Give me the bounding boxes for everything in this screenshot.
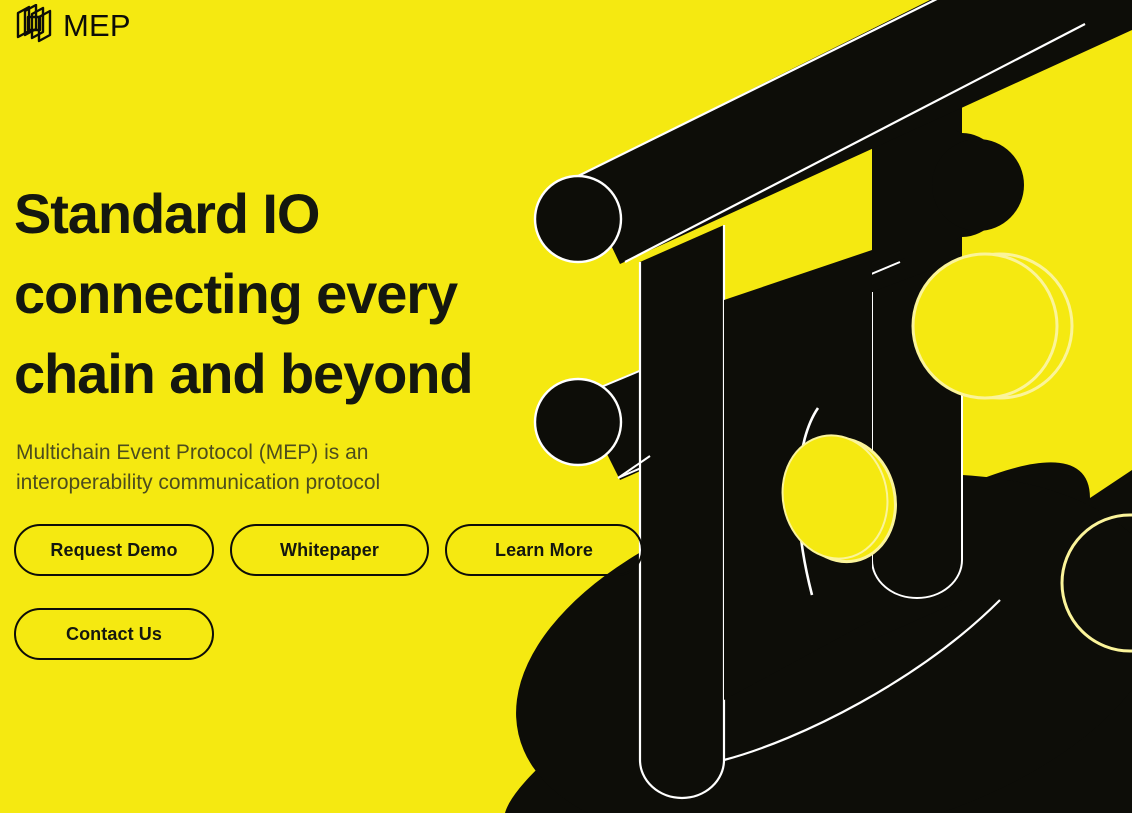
- learn-more-button[interactable]: Learn More: [445, 524, 643, 576]
- hero-page: MEP Standard IO connecting every chain a…: [0, 0, 1132, 813]
- inner-black-mass: [724, 250, 872, 700]
- mep-stacked-cubes-logo-icon: [14, 4, 54, 46]
- whitepaper-button[interactable]: Whitepaper: [230, 524, 429, 576]
- cta-button-group: Request Demo Whitepaper Learn More Conta…: [14, 524, 714, 660]
- right-vertical-slab: [872, 58, 962, 640]
- middle-diagonal-beam: [570, 258, 962, 480]
- contact-us-button[interactable]: Contact Us: [14, 608, 214, 660]
- top-diagonal-beam: [570, 0, 1132, 264]
- page-subtitle: Multichain Event Protocol (MEP) is an in…: [16, 438, 574, 498]
- brand-logo[interactable]: MEP: [14, 4, 131, 46]
- page-title: Standard IO connecting every chain and b…: [14, 174, 574, 414]
- front-left-pillar: [640, 225, 724, 798]
- right-outlined-circles: [913, 254, 1132, 651]
- inner-outlined-circle: [771, 408, 907, 595]
- hero-copy-block: Standard IO connecting every chain and b…: [14, 174, 574, 498]
- top-right-tube-cap: [932, 130, 1024, 240]
- mid-vertical-pillar: [872, 258, 962, 598]
- request-demo-button[interactable]: Request Demo: [14, 524, 214, 576]
- brand-wordmark: MEP: [63, 10, 131, 41]
